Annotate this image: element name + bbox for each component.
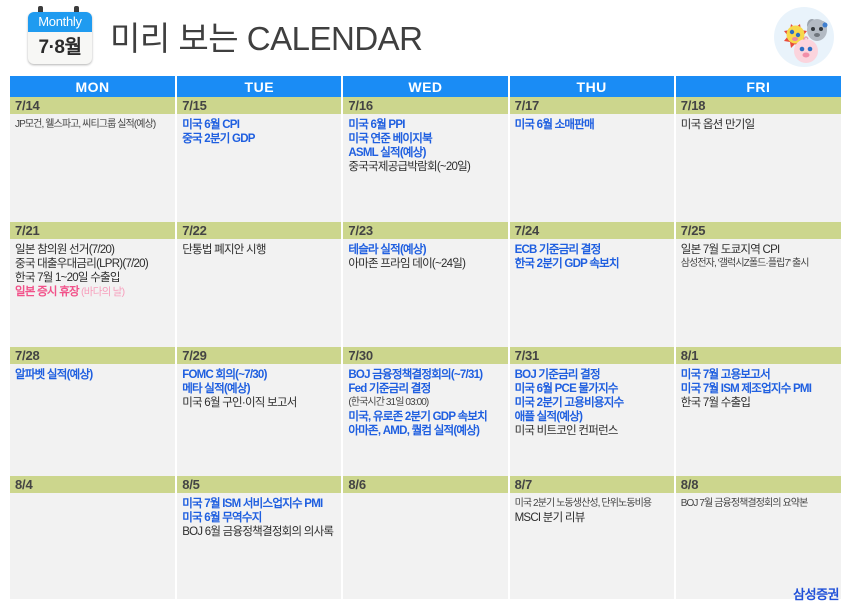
calendar-badge-body: Monthly 7·8월 (28, 12, 92, 64)
calendar-week-row: 7/14JP모건, 웰스파고, 씨티그룹 실적(예상)7/15미국 6월 CPI… (10, 97, 841, 222)
column-header-thu: THU (509, 76, 675, 97)
event-label: 미국 6월 PPI (348, 119, 404, 131)
calendar-badge-icon: Monthly 7·8월 (24, 6, 96, 66)
day-events-list: JP모건, 웰스파고, 씨티그룹 실적(예상) (10, 114, 175, 222)
event-item: 미국 6월 CPI (182, 118, 337, 132)
day-date-label: 7/21 (10, 222, 175, 239)
event-item: 중국국제공급박람회(~20일) (348, 160, 503, 174)
event-label: 알파벳 실적(예상) (15, 369, 92, 381)
event-label: 테슬라 실적(예상) (348, 244, 425, 256)
event-item: 한국 7월 1~20일 수출입 (15, 271, 171, 285)
event-item: 미국 7월 고용보고서 (681, 368, 837, 382)
event-item: 한국 7월 수출입 (681, 396, 837, 410)
event-item: FOMC 회의(~7/30) (182, 368, 337, 382)
column-header-mon: MON (10, 76, 176, 97)
event-item: 미국 6월 소매판매 (515, 118, 670, 132)
event-item: BOJ 기준금리 결정 (515, 368, 670, 382)
calendar-day-cell[interactable]: 7/28알파벳 실적(예상) (10, 347, 176, 476)
calendar-day-cell[interactable]: 7/14JP모건, 웰스파고, 씨티그룹 실적(예상) (10, 97, 176, 222)
day-date-label: 7/29 (177, 347, 341, 364)
calendar-day-cell[interactable]: 7/25일본 7월 도쿄지역 CPI삼성전자, '갤럭시Z폴드·플립7' 출시 (675, 222, 841, 347)
day-date-label: 7/25 (676, 222, 841, 239)
event-label: 미국 2분기 노동생산성, 단위노동비용 (515, 498, 652, 509)
event-item: Fed 기준금리 결정 (348, 382, 503, 396)
brand-logo: 삼성증권 (793, 584, 839, 603)
day-date-label: 7/30 (343, 347, 507, 364)
calendar-badge-bottom-label: 7·8월 (28, 32, 92, 64)
calendar-day-cell[interactable]: 8/4 (10, 476, 176, 599)
day-events-list: BOJ 금융정책결정회의(~7/31)Fed 기준금리 결정(한국시간 31일 … (343, 364, 507, 476)
event-label: 일본 참의원 선거(7/20) (15, 244, 114, 256)
event-item: 아마존 프라임 데이(~24일) (348, 257, 503, 271)
day-date-label: 7/28 (10, 347, 175, 364)
day-events-list: BOJ 기준금리 결정미국 6월 PCE 물가지수미국 2분기 고용비용지수애플… (510, 364, 674, 476)
event-item: 삼성전자, '갤럭시Z폴드·플립7' 출시 (681, 257, 837, 271)
day-events-list: 단통법 폐지안 시행 (177, 239, 341, 347)
day-date-label: 7/22 (177, 222, 341, 239)
event-item: 미국 6월 구인·이직 보고서 (182, 396, 337, 410)
event-item: 미국 6월 무역수지 (182, 511, 337, 525)
event-item: ECB 기준금리 결정 (515, 243, 670, 257)
calendar-body: 7/14JP모건, 웰스파고, 씨티그룹 실적(예상)7/15미국 6월 CPI… (10, 97, 841, 599)
day-date-label: 7/23 (343, 222, 507, 239)
calendar-day-cell[interactable]: 7/31BOJ 기준금리 결정미국 6월 PCE 물가지수미국 2분기 고용비용… (509, 347, 675, 476)
event-label: 단통법 폐지안 시행 (182, 244, 266, 256)
event-label: 중국 대출우대금리(LPR)(7/20) (15, 258, 148, 270)
event-label: 일본 7월 도쿄지역 CPI (681, 244, 780, 256)
page-title: 미리 보는 CALENDAR (110, 12, 423, 60)
day-date-label: 7/24 (510, 222, 674, 239)
day-events-list: 미국 7월 고용보고서미국 7월 ISM 제조업지수 PMI한국 7월 수출입 (676, 364, 841, 476)
calendar-day-cell[interactable]: 7/16미국 6월 PPI미국 연준 베이지북ASML 실적(예상)중국국제공급… (342, 97, 508, 222)
event-item: 일본 참의원 선거(7/20) (15, 243, 171, 257)
day-events-list (10, 493, 175, 599)
calendar-day-cell[interactable]: 8/1미국 7월 고용보고서미국 7월 ISM 제조업지수 PMI한국 7월 수… (675, 347, 841, 476)
event-item: 미국 2분기 고용비용지수 (515, 396, 670, 410)
event-label: JP모건, 웰스파고, 씨티그룹 실적(예상) (15, 119, 155, 130)
event-item: 일본 7월 도쿄지역 CPI (681, 243, 837, 257)
event-label: 미국 비트코인 컨퍼런스 (515, 425, 618, 437)
event-label: 미국 6월 CPI (182, 119, 239, 131)
day-date-label: 8/5 (177, 476, 341, 493)
event-label: BOJ 기준금리 결정 (515, 369, 600, 381)
day-events-list: 일본 참의원 선거(7/20)중국 대출우대금리(LPR)(7/20)한국 7월… (10, 239, 175, 347)
day-date-label: 8/4 (10, 476, 175, 493)
event-label: 한국 7월 1~20일 수출입 (15, 272, 120, 284)
event-label: (한국시간 31일 03:00) (348, 397, 428, 408)
event-label: 한국 2분기 GDP 속보치 (515, 258, 619, 270)
event-label: 미국 옵션 만기일 (681, 119, 755, 131)
event-label: 중국 2분기 GDP (182, 133, 255, 145)
event-label: 미국 6월 구인·이직 보고서 (182, 397, 296, 409)
event-label: 미국, 유로존 2분기 GDP 속보치 (348, 411, 487, 423)
event-item: 메타 실적(예상) (182, 382, 337, 396)
event-item: BOJ 7월 금융정책결정회의 요약본 (681, 497, 837, 511)
event-item: 미국 연준 베이지북 (348, 132, 503, 146)
calendar-day-cell[interactable]: 8/7미국 2분기 노동생산성, 단위노동비용MSCI 분기 리뷰 (509, 476, 675, 599)
calendar-day-cell[interactable]: 7/17미국 6월 소매판매 (509, 97, 675, 222)
day-events-list: 미국 6월 PPI미국 연준 베이지북ASML 실적(예상)중국국제공급박람회(… (343, 114, 507, 222)
event-item: 일본 증시 휴장 (바다의 날) (15, 285, 171, 299)
event-note: (바다의 날) (79, 286, 124, 298)
event-item: 미국 비트코인 컨퍼런스 (515, 424, 670, 438)
event-item: BOJ 6월 금융정책결정회의 의사록 (182, 525, 337, 539)
event-label: 아마존, AMD, 퀄컴 실적(예상) (348, 425, 479, 437)
event-label: FOMC 회의(~7/30) (182, 369, 266, 381)
event-item: 미국 6월 PPI (348, 118, 503, 132)
event-item: 미국 옵션 만기일 (681, 118, 837, 132)
calendar-day-cell[interactable]: 8/5미국 7월 ISM 서비스업지수 PMI미국 6월 무역수지BOJ 6월 … (176, 476, 342, 599)
day-date-label: 8/8 (676, 476, 841, 493)
event-label: 한국 7월 수출입 (681, 397, 751, 409)
day-date-label: 8/1 (676, 347, 841, 364)
calendar-table: MON TUE WED THU FRI 7/14JP모건, 웰스파고, 씨티그룹… (10, 76, 841, 599)
event-label: 아마존 프라임 데이(~24일) (348, 258, 465, 270)
calendar-week-row: 7/28알파벳 실적(예상)7/29FOMC 회의(~7/30)메타 실적(예상… (10, 347, 841, 476)
event-item: 미국 6월 PCE 물가지수 (515, 382, 670, 396)
event-item: (한국시간 31일 03:00) (348, 396, 503, 410)
event-label: 미국 6월 무역수지 (182, 512, 261, 524)
event-label: BOJ 7월 금융정책결정회의 요약본 (681, 498, 808, 509)
column-header-wed: WED (342, 76, 508, 97)
day-events-list (343, 493, 507, 599)
calendar-week-row: 8/48/5미국 7월 ISM 서비스업지수 PMI미국 6월 무역수지BOJ … (10, 476, 841, 599)
day-date-label: 8/6 (343, 476, 507, 493)
event-label: 미국 6월 PCE 물가지수 (515, 383, 618, 395)
event-item: 중국 대출우대금리(LPR)(7/20) (15, 257, 171, 271)
column-header-tue: TUE (176, 76, 342, 97)
event-label: 미국 7월 ISM 서비스업지수 PMI (182, 498, 322, 510)
event-label: ASML 실적(예상) (348, 147, 425, 159)
event-item: 미국 7월 ISM 제조업지수 PMI (681, 382, 837, 396)
event-label: 미국 6월 소매판매 (515, 119, 594, 131)
event-item: 애플 실적(예상) (515, 410, 670, 424)
event-item: 중국 2분기 GDP (182, 132, 337, 146)
calendar-day-cell[interactable]: 7/24ECB 기준금리 결정한국 2분기 GDP 속보치 (509, 222, 675, 347)
event-label: 삼성전자, '갤럭시Z폴드·플립7' 출시 (681, 258, 809, 269)
event-label: MSCI 분기 리뷰 (515, 512, 585, 524)
day-events-list: 미국 6월 CPI중국 2분기 GDP (177, 114, 341, 222)
calendar-day-cell[interactable]: 8/8BOJ 7월 금융정책결정회의 요약본 (675, 476, 841, 599)
event-label: Fed 기준금리 결정 (348, 383, 430, 395)
calendar-day-cell[interactable]: 7/30BOJ 금융정책결정회의(~7/31)Fed 기준금리 결정(한국시간 … (342, 347, 508, 476)
day-events-list: 일본 7월 도쿄지역 CPI삼성전자, '갤럭시Z폴드·플립7' 출시 (676, 239, 841, 347)
column-header-fri: FRI (675, 76, 841, 97)
event-label: 미국 2분기 고용비용지수 (515, 397, 624, 409)
calendar-header-row: MON TUE WED THU FRI (10, 76, 841, 97)
day-events-list: 미국 2분기 노동생산성, 단위노동비용MSCI 분기 리뷰 (510, 493, 674, 599)
calendar-week-row: 7/21일본 참의원 선거(7/20)중국 대출우대금리(LPR)(7/20)한… (10, 222, 841, 347)
calendar-day-cell[interactable]: 7/23테슬라 실적(예상)아마존 프라임 데이(~24일) (342, 222, 508, 347)
event-label: 미국 7월 고용보고서 (681, 369, 770, 381)
event-label: 메타 실적(예상) (182, 383, 250, 395)
calendar-day-cell[interactable]: 7/22단통법 폐지안 시행 (176, 222, 342, 347)
event-item: BOJ 금융정책결정회의(~7/31) (348, 368, 503, 382)
event-label: ECB 기준금리 결정 (515, 244, 601, 256)
day-date-label: 8/7 (510, 476, 674, 493)
event-label: 미국 연준 베이지북 (348, 133, 432, 145)
event-item: ASML 실적(예상) (348, 146, 503, 160)
day-date-label: 7/17 (510, 97, 674, 114)
calendar-day-cell[interactable]: 7/18미국 옵션 만기일 (675, 97, 841, 222)
day-date-label: 7/16 (343, 97, 507, 114)
calendar-badge-top-label: Monthly (28, 12, 92, 32)
day-events-list: 미국 옵션 만기일 (676, 114, 841, 222)
event-label: 중국국제공급박람회(~20일) (348, 161, 470, 173)
day-events-list: 미국 7월 ISM 서비스업지수 PMI미국 6월 무역수지BOJ 6월 금융정… (177, 493, 341, 599)
day-events-list: 미국 6월 소매판매 (510, 114, 674, 222)
day-events-list: 테슬라 실적(예상)아마존 프라임 데이(~24일) (343, 239, 507, 347)
event-label: 일본 증시 휴장 (15, 286, 79, 298)
calendar-day-cell[interactable]: 7/15미국 6월 CPI중국 2분기 GDP (176, 97, 342, 222)
event-item: 테슬라 실적(예상) (348, 243, 503, 257)
day-events-list: ECB 기준금리 결정한국 2분기 GDP 속보치 (510, 239, 674, 347)
event-item: 아마존, AMD, 퀄컴 실적(예상) (348, 424, 503, 438)
event-item: 한국 2분기 GDP 속보치 (515, 257, 670, 271)
day-date-label: 7/18 (676, 97, 841, 114)
day-events-list: 알파벳 실적(예상) (10, 364, 175, 476)
day-events-list: FOMC 회의(~7/30)메타 실적(예상)미국 6월 구인·이직 보고서 (177, 364, 341, 476)
event-item: 단통법 폐지안 시행 (182, 243, 337, 257)
event-label: BOJ 금융정책결정회의(~7/31) (348, 369, 482, 381)
day-date-label: 7/15 (177, 97, 341, 114)
event-item: 미국 2분기 노동생산성, 단위노동비용 (515, 497, 670, 511)
event-label: BOJ 6월 금융정책결정회의 의사록 (182, 526, 333, 538)
event-item: MSCI 분기 리뷰 (515, 511, 670, 525)
day-date-label: 7/14 (10, 97, 175, 114)
calendar-day-cell[interactable]: 7/21일본 참의원 선거(7/20)중국 대출우대금리(LPR)(7/20)한… (10, 222, 176, 347)
event-item: 알파벳 실적(예상) (15, 368, 171, 382)
event-item: 미국, 유로존 2분기 GDP 속보치 (348, 410, 503, 424)
event-item: 미국 7월 ISM 서비스업지수 PMI (182, 497, 337, 511)
event-label: 애플 실적(예상) (515, 411, 583, 423)
page-header: Monthly 7·8월 미리 보는 CALENDAR (0, 0, 851, 76)
event-label: 미국 7월 ISM 제조업지수 PMI (681, 383, 811, 395)
calendar-day-cell[interactable]: 7/29FOMC 회의(~7/30)메타 실적(예상)미국 6월 구인·이직 보… (176, 347, 342, 476)
day-date-label: 7/31 (510, 347, 674, 364)
mascot-characters-icon (773, 6, 835, 68)
calendar-day-cell[interactable]: 8/6 (342, 476, 508, 599)
event-item: JP모건, 웰스파고, 씨티그룹 실적(예상) (15, 118, 171, 132)
